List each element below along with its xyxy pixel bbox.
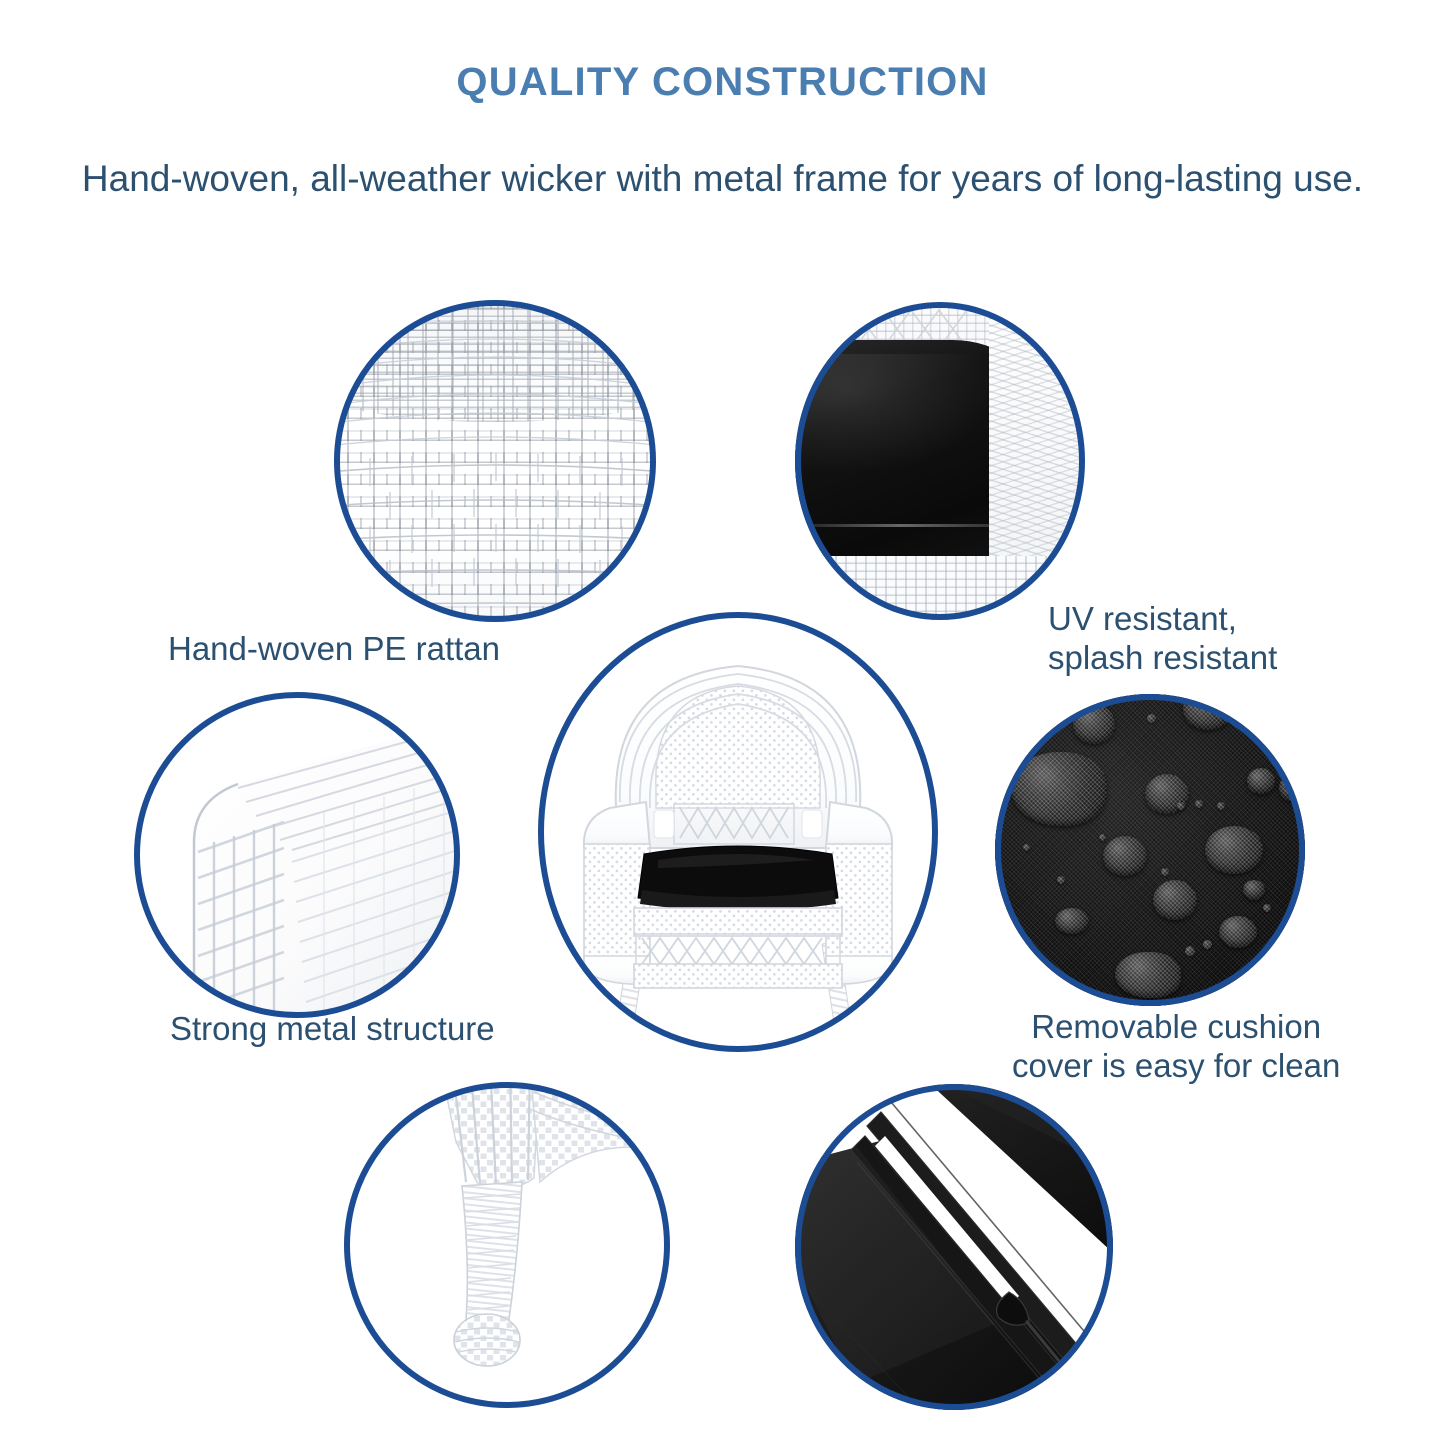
water-droplet — [1073, 704, 1115, 744]
feature-circle-chair-leg-detail — [344, 1082, 670, 1408]
wicker-strand-overlay — [334, 300, 656, 622]
water-droplet — [1247, 768, 1275, 794]
feature-circle-uv-splash-resistant — [795, 302, 1085, 620]
chair-leg-illustration — [344, 1082, 670, 1408]
feature-circle-zipper-detail — [795, 1084, 1113, 1410]
water-droplet — [1217, 802, 1225, 810]
caption-strong-metal-structure: Strong metal structure — [170, 1010, 495, 1049]
water-droplet — [1055, 908, 1089, 934]
water-droplet — [1161, 868, 1169, 876]
water-droplet — [1057, 876, 1065, 884]
caption-hand-woven-pe-rattan: Hand-woven PE rattan — [168, 630, 500, 669]
water-droplet — [1023, 844, 1030, 851]
skirt-lattice — [642, 938, 822, 964]
feature-circle-hand-woven-pe-rattan — [334, 300, 656, 622]
feature-circle-strong-metal-structure — [134, 692, 460, 1018]
water-droplet — [1147, 714, 1156, 723]
page-title: QUALITY CONSTRUCTION — [0, 60, 1445, 105]
caption-uv-splash-resistant: UV resistant, splash resistant — [1048, 600, 1277, 678]
wicker-armchair-illustration — [538, 612, 938, 1052]
feature-circle-removable-cushion-cover — [995, 694, 1305, 1006]
armrest-wicker-shape — [134, 692, 460, 1018]
wicker-bottom-rail — [795, 556, 1085, 620]
water-droplet — [1203, 940, 1212, 949]
water-droplet — [1103, 836, 1147, 876]
water-droplet — [1195, 800, 1203, 808]
cushion-zipper-illustration — [795, 1084, 1113, 1410]
water-droplet — [1153, 880, 1197, 920]
water-droplet — [1115, 952, 1181, 998]
page-subtitle: Hand-woven, all-weather wicker with meta… — [0, 158, 1445, 200]
water-droplet — [1011, 752, 1107, 826]
water-droplet — [1099, 834, 1106, 841]
infographic-canvas: QUALITY CONSTRUCTION Hand-woven, all-wea… — [0, 0, 1445, 1445]
caption-removable-cushion-cover: Removable cushion cover is easy for clea… — [1012, 1008, 1340, 1086]
water-droplet — [1219, 916, 1257, 948]
water-droplet — [1279, 774, 1305, 802]
water-droplet — [1177, 802, 1185, 810]
water-droplet — [1263, 904, 1271, 912]
feature-circle-full-chair — [538, 612, 938, 1052]
cushion-highlight — [795, 354, 995, 474]
water-droplet — [1243, 880, 1265, 900]
water-droplet — [1185, 946, 1195, 956]
water-droplet — [1205, 826, 1263, 874]
